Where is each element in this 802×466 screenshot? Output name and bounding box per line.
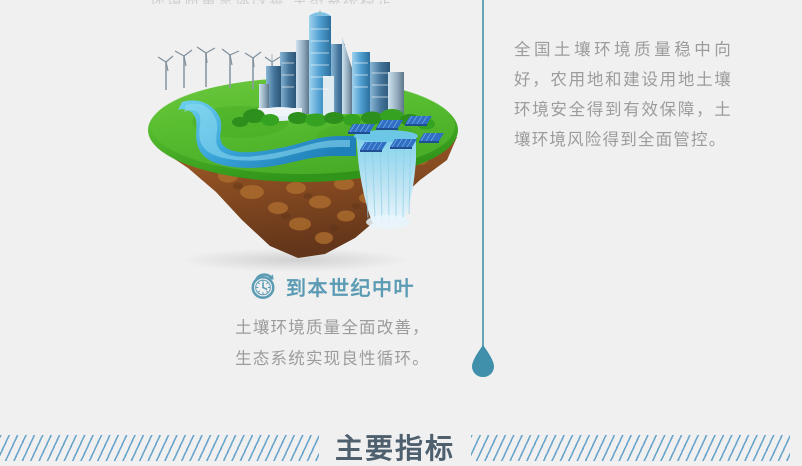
goal-paragraph: 全国土壤环境质量稳中向好，农用地和建设用地土壤环境安全得到有效保障，土壤环境风险… — [514, 35, 732, 155]
floating-eco-island — [120, 10, 490, 272]
clock-icon — [250, 273, 277, 300]
stripe-decoration-left — [0, 435, 319, 461]
water-droplet-icon — [469, 344, 497, 378]
top-cropped-text: 环境质量总体改善 生态系统稳定 — [150, 0, 400, 4]
section-title: 主要指标 — [335, 427, 455, 466]
page-root: 环境质量总体改善 生态系统稳定 — [0, 0, 802, 466]
stripe-decoration-right — [471, 435, 790, 461]
milestone-caption-block: 到本世纪中叶 土壤环境质量全面改善， 生态系统实现良性循环。 — [200, 272, 465, 375]
milestone-body-line-1: 土壤环境质量全面改善， — [200, 313, 465, 344]
milestone-body-text: 土壤环境质量全面改善， 生态系统实现良性循环。 — [200, 313, 465, 375]
milestone-heading-label: 到本世纪中叶 — [286, 272, 415, 301]
milestone-body-line-2: 生态系统实现良性循环。 — [200, 344, 465, 375]
section-heading: 主要指标 — [0, 430, 802, 466]
milestone-heading-row: 到本世纪中叶 — [200, 272, 465, 301]
right-text-column: 全国土壤环境质量稳中向好，农用地和建设用地土壤环境安全得到有效保障，土壤环境风险… — [514, 18, 732, 171]
